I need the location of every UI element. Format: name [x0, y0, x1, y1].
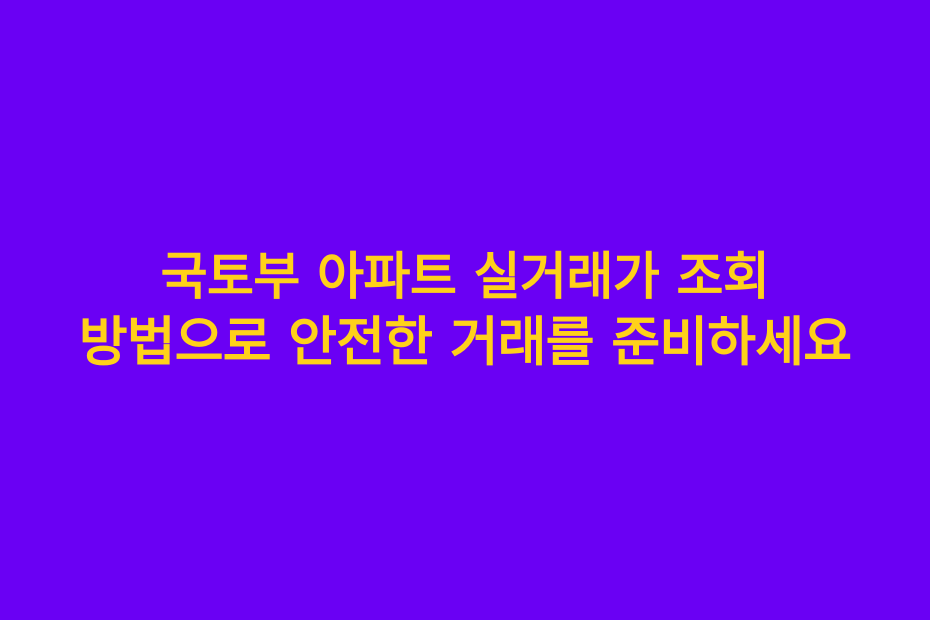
banner-canvas: 국토부 아파트 실거래가 조회 방법으로 안전한 거래를 준비하세요	[0, 0, 930, 620]
headline-line-2: 방법으로 안전한 거래를 준비하세요	[12, 310, 918, 375]
headline-line-1: 국토부 아파트 실거래가 조회	[12, 245, 918, 310]
headline-block: 국토부 아파트 실거래가 조회 방법으로 안전한 거래를 준비하세요	[0, 245, 930, 375]
